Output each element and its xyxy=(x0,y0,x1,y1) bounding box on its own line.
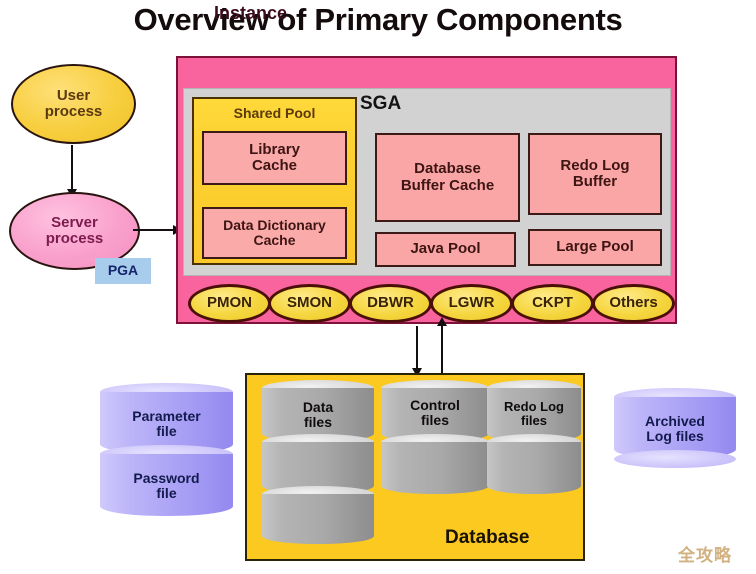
user-process-label-line1: User xyxy=(57,87,90,104)
instance-title: Instance xyxy=(0,3,501,24)
pga-box: PGA xyxy=(95,258,151,284)
background-process-label: PMON xyxy=(207,295,252,311)
java-pool-box: Java Pool xyxy=(375,232,516,267)
redo-log-buffer-box: Redo Log Buffer xyxy=(528,133,662,215)
background-process-label: LGWR xyxy=(449,295,495,311)
database-label: Database xyxy=(445,527,530,549)
data-dictionary-label-line1: Data Dictionary xyxy=(223,217,326,233)
redo-log-files-label: Redo Log files xyxy=(487,400,581,428)
archived-log-files-label: Archived Log files xyxy=(614,414,736,445)
background-process-ckpt: CKPT xyxy=(511,284,594,323)
database-buffer-cache-label-line1: Database xyxy=(414,160,481,177)
library-cache-label-line2: Cache xyxy=(252,157,297,174)
sga-title: SGA xyxy=(360,93,401,115)
background-process-others: Others xyxy=(592,284,675,323)
library-cache-label-line1: Library xyxy=(249,141,300,158)
server-process-label-line2: process xyxy=(46,230,104,247)
background-process-smon: SMON xyxy=(268,284,351,323)
user-process-label-line2: process xyxy=(45,103,103,120)
server-process-label-line1: Server xyxy=(51,214,98,231)
background-process-label: Others xyxy=(609,295,657,311)
arrow-user-to-server xyxy=(71,145,73,189)
archived-log-files-cylinder: Archived Log files xyxy=(614,388,736,484)
parameter-file-label: Parameter file xyxy=(100,409,233,440)
arrow-server-to-instance xyxy=(133,229,173,231)
arrow-database-to-instance xyxy=(441,326,443,376)
background-process-dbwr: DBWR xyxy=(349,284,432,323)
database-buffer-cache-box: Database Buffer Cache xyxy=(375,133,520,222)
database-buffer-cache-label-line2: Buffer Cache xyxy=(401,177,494,194)
redo-log-buffer-label-line2: Buffer xyxy=(573,173,617,190)
background-process-label: SMON xyxy=(287,295,332,311)
background-process-pmon: PMON xyxy=(188,284,271,323)
user-process-node: User process xyxy=(11,64,136,144)
library-cache-box: Library Cache xyxy=(202,131,347,185)
watermark: 全攻略 xyxy=(678,541,732,566)
control-files-cylinder: Control files xyxy=(381,380,489,500)
data-dictionary-cache-box: Data Dictionary Cache xyxy=(202,207,347,259)
password-file-label: Password file xyxy=(100,471,233,502)
parameter-password-file-cylinder: Parameter file Password file xyxy=(100,383,233,543)
control-files-label: Control files xyxy=(381,398,489,428)
redo-log-buffer-label-line1: Redo Log xyxy=(560,157,629,174)
data-files-cylinder: Data files xyxy=(262,380,374,546)
shared-pool-title: Shared Pool xyxy=(192,105,357,121)
background-process-label: DBWR xyxy=(367,295,414,311)
arrow-instance-to-database xyxy=(416,326,418,368)
large-pool-box: Large Pool xyxy=(528,229,662,266)
data-files-label: Data files xyxy=(262,400,374,430)
data-dictionary-label-line2: Cache xyxy=(253,232,295,248)
background-process-label: CKPT xyxy=(532,295,573,311)
redo-log-files-cylinder: Redo Log files xyxy=(487,380,581,500)
diagram-canvas: Overview of Primary Components User proc… xyxy=(0,0,756,574)
